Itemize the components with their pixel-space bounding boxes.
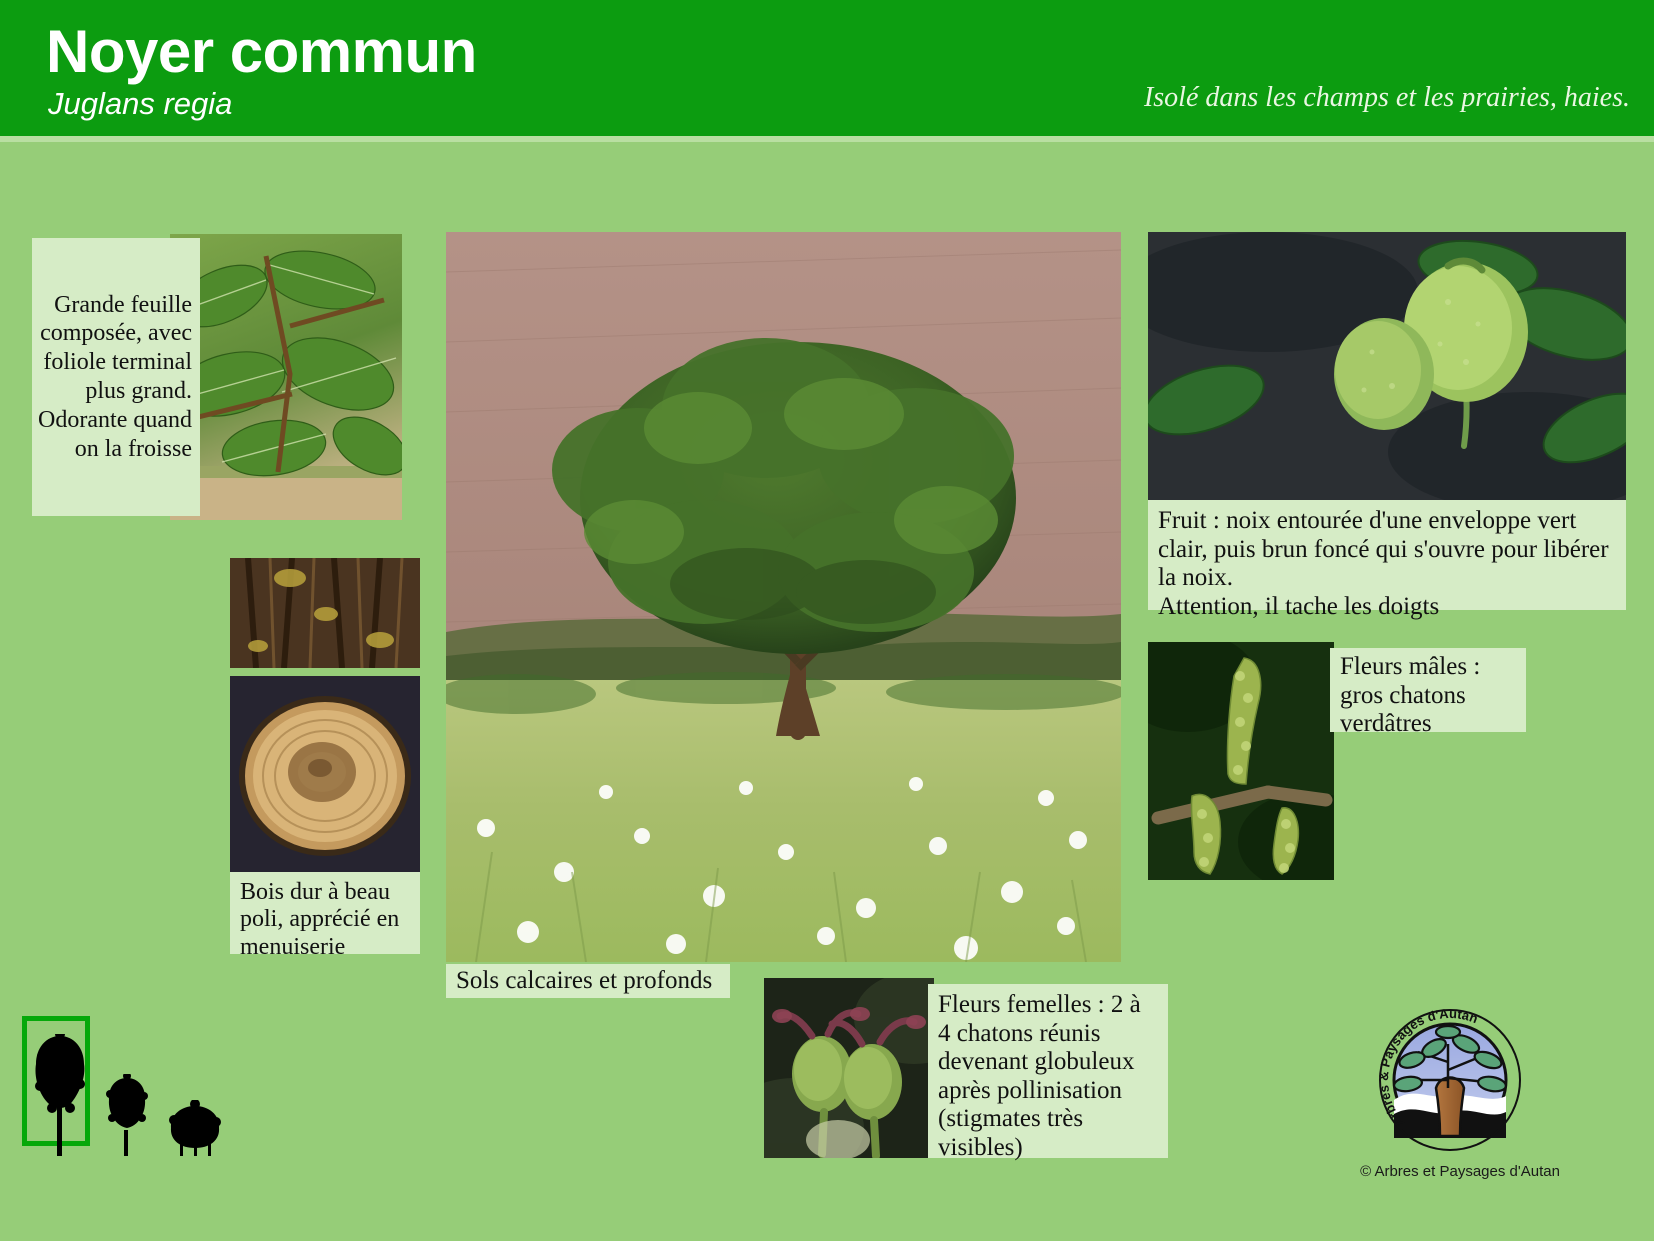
male-flowers-photo — [1148, 642, 1334, 880]
female-flowers-photo — [764, 978, 934, 1158]
tree-photo — [446, 232, 1121, 962]
leaf-photo — [170, 234, 402, 520]
leaf-caption: Grande feuille composée, avec foliole te… — [32, 238, 200, 516]
bark-photo-image — [230, 558, 420, 668]
header-divider — [0, 136, 1654, 142]
tree-photo-image — [446, 232, 1121, 962]
habit-icon-bush[interactable] — [168, 1100, 222, 1156]
fruit-photo — [1148, 232, 1626, 510]
female-flowers-caption: Fleurs femelles : 2 à 4 chatons réunis d… — [928, 984, 1168, 1158]
habit-icon-shrub[interactable] — [106, 1074, 148, 1156]
leaf-photo-image — [170, 234, 402, 520]
fruit-photo-image — [1148, 232, 1626, 510]
copyright-notice: © Arbres et Paysages d'Autan — [1300, 1163, 1620, 1180]
page-title: Noyer commun — [46, 22, 477, 82]
organization-logo: Arbres & Paysages d'Autan — [1374, 1004, 1526, 1156]
bark-photo — [230, 558, 420, 668]
wood-photo-image — [230, 676, 420, 872]
female-flowers-photo-image — [764, 978, 934, 1158]
male-flowers-photo-image — [1148, 642, 1334, 880]
habitat-note: Isolé dans les champs et les prairies, h… — [1144, 82, 1630, 114]
fruit-caption: Fruit : noix entourée d'une enveloppe ve… — [1148, 500, 1626, 610]
tree-caption: Sols calcaires et profonds — [446, 964, 730, 998]
scientific-name: Juglans regia — [48, 88, 232, 119]
wood-caption: Bois dur à beau poli, apprécié en menuis… — [230, 872, 420, 954]
male-flowers-caption: Fleurs mâles : gros chatons verdâtres — [1330, 648, 1526, 732]
wood-photo — [230, 676, 420, 872]
habit-icon-tree[interactable] — [34, 1034, 86, 1156]
habit-form-indicator — [18, 1008, 228, 1158]
